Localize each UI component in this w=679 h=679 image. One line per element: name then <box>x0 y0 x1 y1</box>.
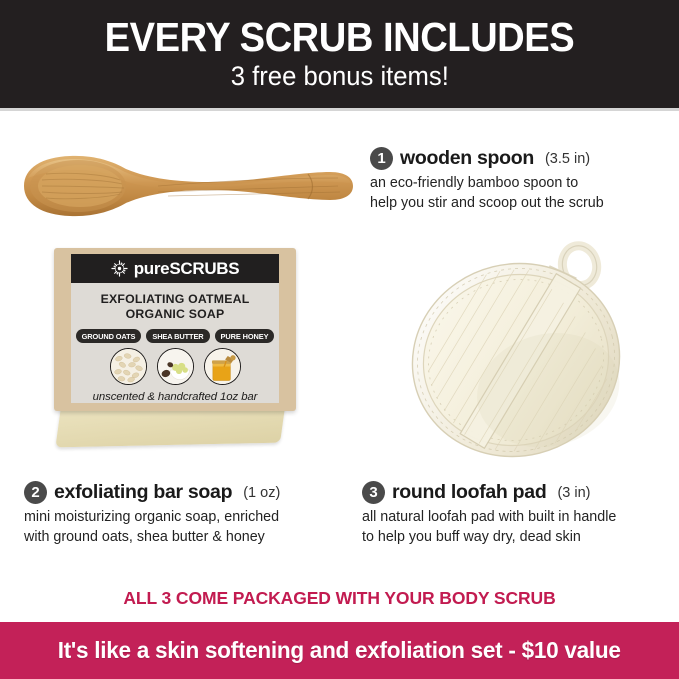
item-3-text: 3 round loofah pad (3 in) all natural lo… <box>362 481 672 547</box>
soap-brand-name: pureSCRUBS <box>134 259 240 279</box>
value-banner-text: It's like a skin softening and exfoliati… <box>58 637 621 664</box>
item-1-desc-line-1: an eco-friendly bamboo spoon to <box>370 174 675 194</box>
item-2-heading: 2 exfoliating bar soap (1 oz) <box>24 481 344 504</box>
item-1-text: 1 wooden spoon (3.5 in) an eco-friendly … <box>370 147 675 213</box>
ingredient-pill-shea: SHEA BUTTER <box>146 329 209 343</box>
honey-jar-photo <box>204 348 241 385</box>
item-2-title: exfoliating bar soap <box>54 481 232 504</box>
soap-ingredient-photos <box>110 348 241 385</box>
number-badge-2: 2 <box>24 481 47 504</box>
soap-product-line-1: EXFOLIATING OATMEAL <box>101 292 250 306</box>
soap-label-panel: pureSCRUBS EXFOLIATING OATMEAL ORGANIC S… <box>71 254 279 403</box>
ingredient-pill-oats: GROUND OATS <box>76 329 142 343</box>
item-2-description: mini moisturizing organic soap, enriched… <box>24 508 344 547</box>
soap-product-line-2: ORGANIC SOAP <box>126 307 225 321</box>
item-1-heading: 1 wooden spoon (3.5 in) <box>370 147 675 170</box>
item-2-text: 2 exfoliating bar soap (1 oz) mini moist… <box>24 481 344 547</box>
value-banner: It's like a skin softening and exfoliati… <box>0 622 679 679</box>
soap-ingredient-pills: GROUND OATS SHEA BUTTER PURE HONEY <box>76 329 275 343</box>
item-1-description: an eco-friendly bamboo spoon to help you… <box>370 174 675 213</box>
header-subtitle: 3 free bonus items! <box>230 62 448 92</box>
soap-kraft-box: pureSCRUBS EXFOLIATING OATMEAL ORGANIC S… <box>54 248 296 411</box>
round-loofah-pad-photo <box>400 232 640 472</box>
header-banner: EVERY SCRUB INCLUDES 3 free bonus items! <box>0 0 679 108</box>
item-2-desc-line-1: mini moisturizing organic soap, enriched <box>24 508 344 528</box>
item-1-title: wooden spoon <box>400 147 534 170</box>
number-badge-3: 3 <box>362 481 385 504</box>
item-3-desc-line-1: all natural loofah pad with built in han… <box>362 508 672 528</box>
shea-butter-photo <box>157 348 194 385</box>
bamboo-spoon-photo <box>8 142 360 228</box>
item-1-desc-line-2: help you stir and scoop out the scrub <box>370 194 675 214</box>
oats-photo <box>110 348 147 385</box>
infographic-page: EVERY SCRUB INCLUDES 3 free bonus items! <box>0 0 679 679</box>
mandala-emblem-icon <box>111 260 128 277</box>
soap-brand-bar: pureSCRUBS <box>71 254 279 283</box>
packaging-note: ALL 3 COME PACKAGED WITH YOUR BODY SCRUB <box>0 588 679 609</box>
item-2-desc-line-2: with ground oats, shea butter & honey <box>24 528 344 548</box>
item-3-description: all natural loofah pad with built in han… <box>362 508 672 547</box>
soap-footer-text: unscented & handcrafted 1oz bar <box>93 391 258 403</box>
boxed-soap-bar-photo: pureSCRUBS EXFOLIATING OATMEAL ORGANIC S… <box>40 243 310 459</box>
item-2-size: (1 oz) <box>243 485 280 501</box>
header-title: EVERY SCRUB INCLUDES <box>105 16 575 59</box>
header-divider <box>0 108 679 111</box>
number-badge-1: 1 <box>370 147 393 170</box>
item-3-size: (3 in) <box>557 485 590 501</box>
item-3-heading: 3 round loofah pad (3 in) <box>362 481 672 504</box>
ingredient-pill-honey: PURE HONEY <box>215 329 275 343</box>
item-1-size: (3.5 in) <box>545 151 590 167</box>
item-3-title: round loofah pad <box>392 481 546 504</box>
item-3-desc-line-2: to help you buff way dry, dead skin <box>362 528 672 548</box>
